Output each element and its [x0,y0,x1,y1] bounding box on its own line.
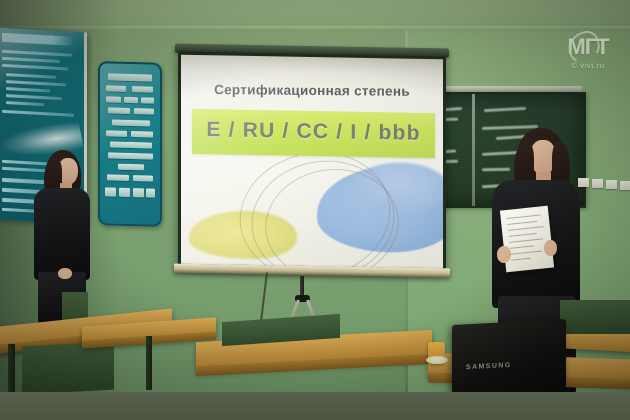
screen-frame: Сертификационная степень E / RU / CC / I… [178,52,446,272]
projection-screen-assembly: Сертификационная степень E / RU / CC / I… [178,50,446,278]
presentation-photo: Сертификационная степень E / RU / CC / I… [0,0,630,420]
org-chart-node [108,152,153,159]
chalk-writing-line [482,151,518,156]
org-chart-node [132,86,153,93]
wall-card [620,181,630,190]
laptop-brand-logo: SAMSUNG [466,362,512,371]
org-chart-node [106,85,126,92]
presenter-left-hands [58,268,72,279]
org-chart-node [124,97,138,103]
org-chart-node [107,174,129,181]
bottom-bar [0,392,630,420]
drink-cup-rim [426,356,448,364]
wall-card [606,180,617,189]
wall-card [592,179,603,188]
wall-org-chart-board [98,61,162,227]
laptop[interactable]: SAMSUNG [452,319,566,397]
chalkboard-divider [472,94,475,206]
org-chart-node [106,130,127,137]
org-chart-node [131,131,153,138]
slide-code-band: E / RU / CC / I / bbb [192,109,435,158]
chalk-writing-line [484,107,526,112]
org-chart-node [110,141,152,148]
org-chart-node [119,188,130,197]
org-chart-node [108,107,130,114]
poster-text-line [2,110,74,117]
org-chart-node [112,119,150,126]
projected-slide: Сертификационная степень E / RU / CC / I… [181,55,443,269]
org-chart-node [106,96,121,102]
chalk-writing-line [482,168,510,171]
desk-front-left-panel [22,342,114,395]
presenter-left-jacket [34,188,90,280]
org-chart-node [108,73,152,81]
presenter-right-right-hand [544,240,557,256]
org-chart-node [141,97,154,103]
org-chart-node [105,187,116,196]
org-chart-node [118,164,144,171]
wall-card [578,178,589,187]
desk-far-right-panel [560,300,630,334]
poster-text-line [6,101,44,106]
chalk-writing-line [482,125,538,130]
desk-leg-left [8,344,15,394]
org-chart-node [134,108,154,115]
slide-title: Сертификационная степень [181,82,443,99]
poster-text-line [6,94,62,100]
presenter-right-documents [500,206,554,273]
slide-code-text: E / RU / CC / I / bbb [192,118,435,146]
desk-leg-mid [146,336,152,390]
org-chart-node [133,175,153,182]
org-chart-node [133,188,144,197]
presenter-right-left-hand [497,246,511,263]
org-chart-node [146,188,155,197]
